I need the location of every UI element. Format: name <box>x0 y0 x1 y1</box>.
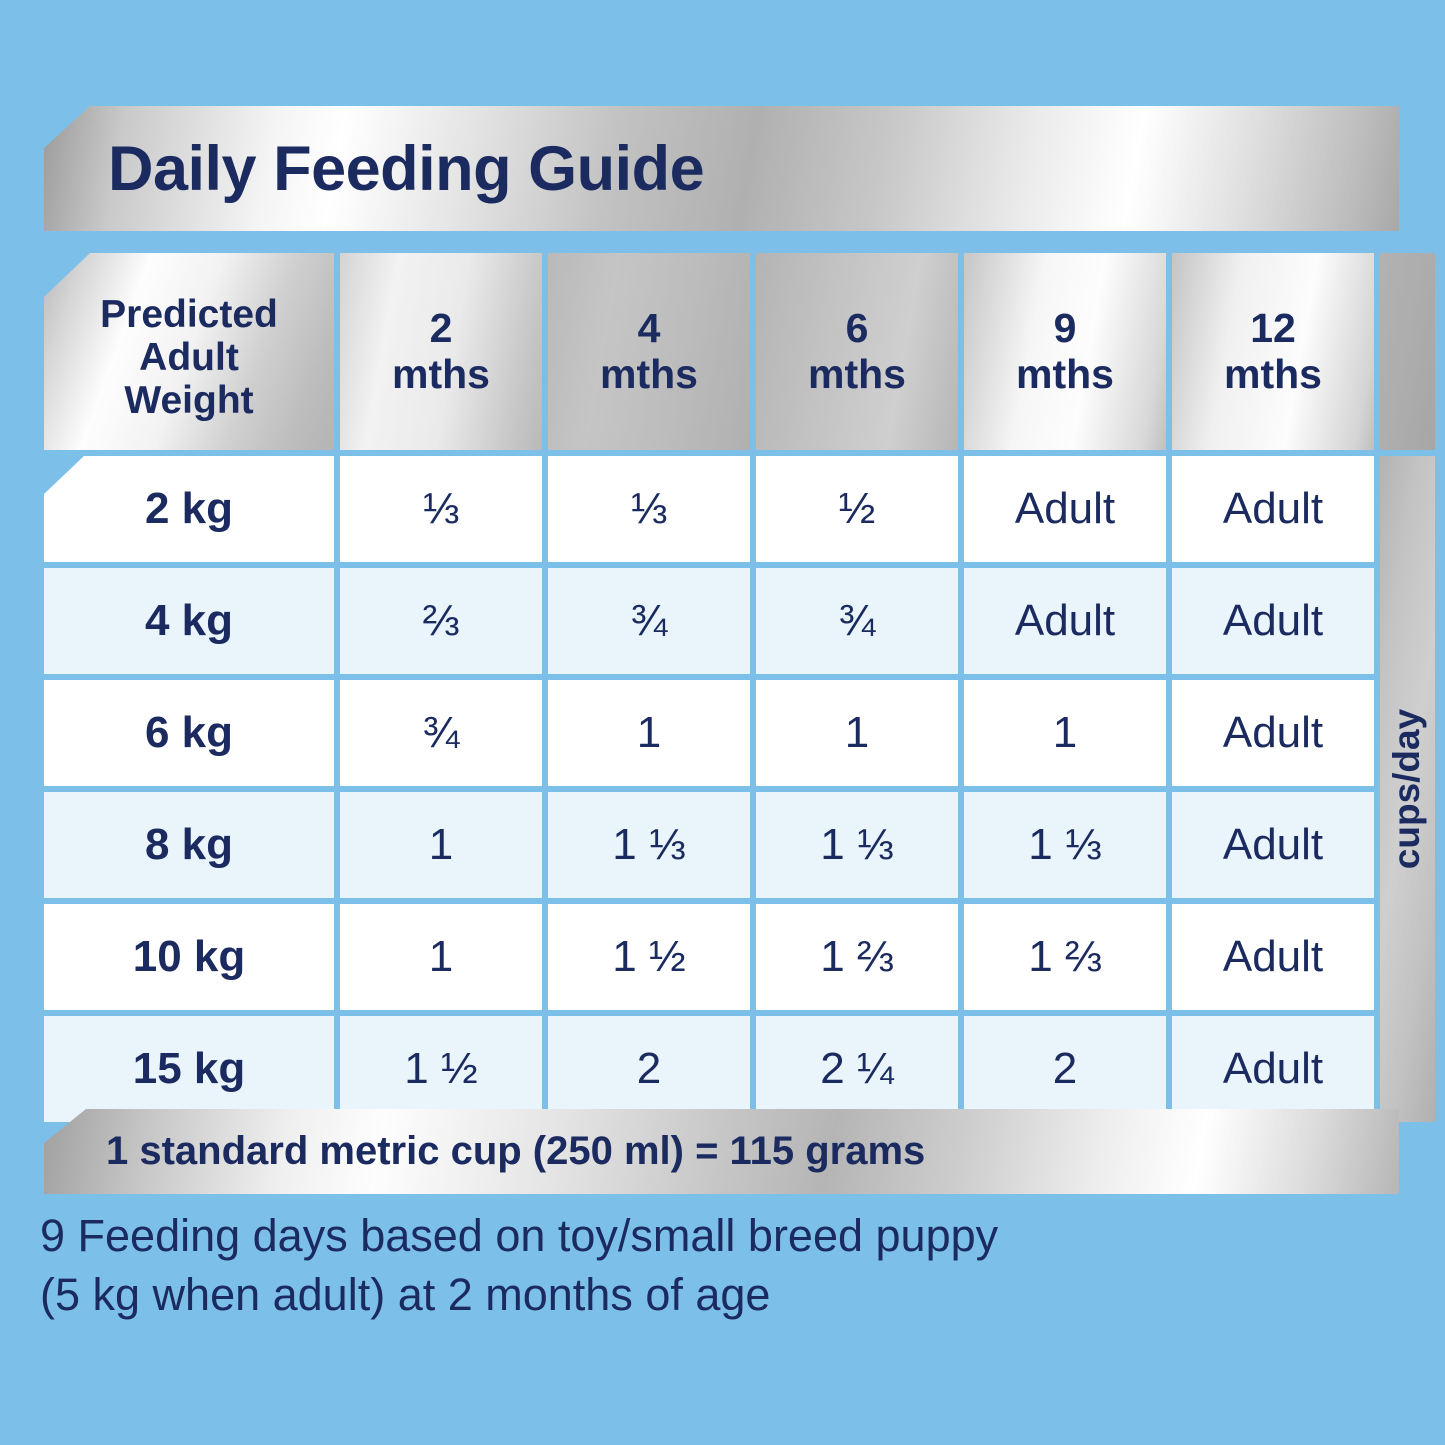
table-cell: ¾ <box>756 568 958 674</box>
side-label-text: cups/day <box>1387 709 1429 869</box>
column-header-6-mths-number: 6 <box>808 306 906 351</box>
table-row-weight: 15 kg <box>44 1016 334 1122</box>
table-cell: Adult <box>964 456 1166 562</box>
footnote-line-2: (5 kg when adult) at 2 months of age <box>40 1266 1430 1325</box>
table-cell: Adult <box>1172 792 1374 898</box>
table-cell: 1 ⅔ <box>964 904 1166 1010</box>
table-cell: ⅓ <box>548 456 750 562</box>
side-label-cups-per-day: cups/day <box>1380 456 1435 1122</box>
column-header-spacer <box>1380 253 1435 450</box>
column-header-4-mths-number: 4 <box>600 306 698 351</box>
column-header-4-mths-unit: mths <box>600 352 698 397</box>
table-cell: 1 ½ <box>340 1016 542 1122</box>
feeding-table: Predicted Adult Weight 2 mths 4 mths <box>44 253 1399 1098</box>
column-header-12-mths: 12 mths <box>1172 253 1374 450</box>
table-cell: ⅔ <box>340 568 542 674</box>
table-row-weight: 6 kg <box>44 680 334 786</box>
table-cell: 1 <box>548 680 750 786</box>
header-line-1: Predicted <box>100 294 278 337</box>
table-cell: 1 <box>340 792 542 898</box>
table-cell: 2 ¼ <box>756 1016 958 1122</box>
column-header-2-mths: 2 mths <box>340 253 542 450</box>
title-bar: Daily Feeding Guide <box>44 106 1399 231</box>
table-cell: Adult <box>1172 568 1374 674</box>
table-cell: 1 ⅓ <box>548 792 750 898</box>
table-cell: ¾ <box>548 568 750 674</box>
table-cell: Adult <box>1172 1016 1374 1122</box>
table-cell: Adult <box>1172 680 1374 786</box>
table-cell: ¾ <box>340 680 542 786</box>
column-header-predicted-adult-weight: Predicted Adult Weight <box>44 253 334 450</box>
column-header-6-mths-unit: mths <box>808 352 906 397</box>
column-header-12-mths-unit: mths <box>1224 352 1322 397</box>
table-row-weight: 10 kg <box>44 904 334 1010</box>
table-cell: 1 <box>756 680 958 786</box>
table-cell: 1 ½ <box>548 904 750 1010</box>
feeding-guide-page: Daily Feeding Guide Predicted Adult Weig… <box>0 0 1445 1445</box>
table-cell: 2 <box>964 1016 1166 1122</box>
table-cell: ⅓ <box>340 456 542 562</box>
page-title: Daily Feeding Guide <box>108 133 704 205</box>
column-header-2-mths-number: 2 <box>392 306 490 351</box>
column-header-2-mths-unit: mths <box>392 352 490 397</box>
header-line-3: Weight <box>100 380 278 423</box>
table-cell: 1 ⅔ <box>756 904 958 1010</box>
table-cell: Adult <box>964 568 1166 674</box>
footnote-line-1: 9 Feeding days based on toy/small breed … <box>40 1207 1430 1266</box>
table-row-weight: 4 kg <box>44 568 334 674</box>
column-header-9-mths-unit: mths <box>1016 352 1114 397</box>
table-cell: Adult <box>1172 456 1374 562</box>
table-row-weight: 8 kg <box>44 792 334 898</box>
column-header-9-mths: 9 mths <box>964 253 1166 450</box>
cup-conversion-text: 1 standard metric cup (250 ml) = 115 gra… <box>106 1129 925 1174</box>
table-cell: 1 ⅓ <box>964 792 1166 898</box>
column-header-4-mths: 4 mths <box>548 253 750 450</box>
table-cell: 1 ⅓ <box>756 792 958 898</box>
table-cell: 2 <box>548 1016 750 1122</box>
header-line-2: Adult <box>100 337 278 380</box>
column-header-9-mths-number: 9 <box>1016 306 1114 351</box>
table-cell: ½ <box>756 456 958 562</box>
cup-conversion-bar: 1 standard metric cup (250 ml) = 115 gra… <box>44 1109 1399 1194</box>
table-cell: 1 <box>340 904 542 1010</box>
table-row-weight: 2 kg <box>44 456 334 562</box>
column-header-12-mths-number: 12 <box>1224 306 1322 351</box>
table-cell: Adult <box>1172 904 1374 1010</box>
column-header-6-mths: 6 mths <box>756 253 958 450</box>
table-cell: 1 <box>964 680 1166 786</box>
feeding-table-grid: Predicted Adult Weight 2 mths 4 mths <box>44 253 1399 1098</box>
footnote: 9 Feeding days based on toy/small breed … <box>40 1207 1430 1324</box>
